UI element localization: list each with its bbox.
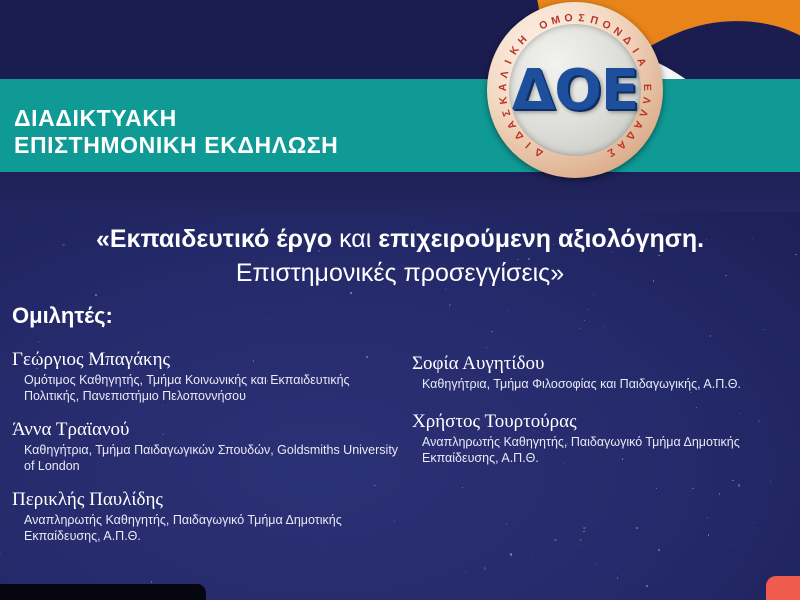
bottom-left-bar-decoration <box>0 584 206 600</box>
speakers-column-right: Σοφία Αυγητίδου Καθηγήτρια, Τμήμα Φιλοσο… <box>412 352 800 484</box>
title-part-1: Εκπαιδευτικό έργο <box>110 225 332 253</box>
speaker-entry: Περικλής Παυλίδης Αναπληρωτής Καθηγητής,… <box>12 488 412 544</box>
speaker-entry: Σοφία Αυγητίδου Καθηγήτρια, Τμήμα Φιλοσο… <box>412 352 800 392</box>
title-part-2: και <box>332 225 378 253</box>
speaker-affiliation: Ομότιμος Καθηγητής, Τμήμα Κοινωνικής και… <box>12 372 404 404</box>
speaker-name: Περικλής Παυλίδης <box>12 488 412 511</box>
speaker-name: Γεώργιος Μπαγάκης <box>12 348 412 371</box>
speaker-name: Άννα Τραϊανού <box>12 418 412 441</box>
band-shadow-strip <box>0 172 800 212</box>
speaker-affiliation: Αναπληρωτής Καθηγητής, Παιδαγωγικό Τμήμα… <box>412 434 800 466</box>
doe-logo-seal: ΔΙΔΑΣΚΑΛΙΚΗ ΟΜΟΣΠΟΝΔΙΑ ΕΛΛΑΔΑΣ ΔΟΕ <box>487 2 663 178</box>
teal-banner-band: ΔΙΑΔΙΚΤΥΑΚΗ ΕΠΙΣΤΗΜΟΝΙΚΗ ΕΚΔΗΛΩΣΗ <box>0 79 800 172</box>
speaker-entry: Χρήστος Τουρτούρας Αναπληρωτής Καθηγητής… <box>412 410 800 466</box>
speaker-affiliation: Καθηγήτρια, Τμήμα Φιλοσοφίας και Παιδαγω… <box>412 376 800 392</box>
seal-acronym: ΔΟΕ <box>487 2 663 178</box>
title-line-1: «Εκπαιδευτικό έργο και επιχειρούμενη αξι… <box>0 222 800 256</box>
bottom-right-red-accent <box>766 576 800 600</box>
banner-text: ΔΙΑΔΙΚΤΥΑΚΗ ΕΠΙΣΤΗΜΟΝΙΚΗ ΕΚΔΗΛΩΣΗ <box>14 105 338 159</box>
speaker-name: Χρήστος Τουρτούρας <box>412 410 800 433</box>
event-poster: ΔΙΑΔΙΚΤΥΑΚΗ ΕΠΙΣΤΗΜΟΝΙΚΗ ΕΚΔΗΛΩΣΗ ΔΙΔΑΣΚ… <box>0 0 800 600</box>
speaker-entry: Γεώργιος Μπαγάκης Ομότιμος Καθηγητής, Τμ… <box>12 348 412 404</box>
speaker-entry: Άννα Τραϊανού Καθηγήτρια, Τμήμα Παιδαγωγ… <box>12 418 412 474</box>
speakers-heading: Ομιλητές: <box>12 303 113 329</box>
title-line-2: Επιστημονικές προσεγγίσεις» <box>0 256 800 290</box>
title-part-3: επιχειρούμενη αξιολόγηση. <box>378 225 704 253</box>
event-title: «Εκπαιδευτικό έργο και επιχειρούμενη αξι… <box>0 222 800 290</box>
speaker-name: Σοφία Αυγητίδου <box>412 352 800 375</box>
speaker-affiliation: Καθηγήτρια, Τμήμα Παιδαγωγικών Σπουδών, … <box>12 442 404 474</box>
speaker-affiliation: Αναπληρωτής Καθηγητής, Παιδαγωγικό Τμήμα… <box>12 512 404 544</box>
title-open-quote: « <box>96 225 110 253</box>
speakers-column-left: Γεώργιος Μπαγάκης Ομότιμος Καθηγητής, Τμ… <box>12 348 412 558</box>
